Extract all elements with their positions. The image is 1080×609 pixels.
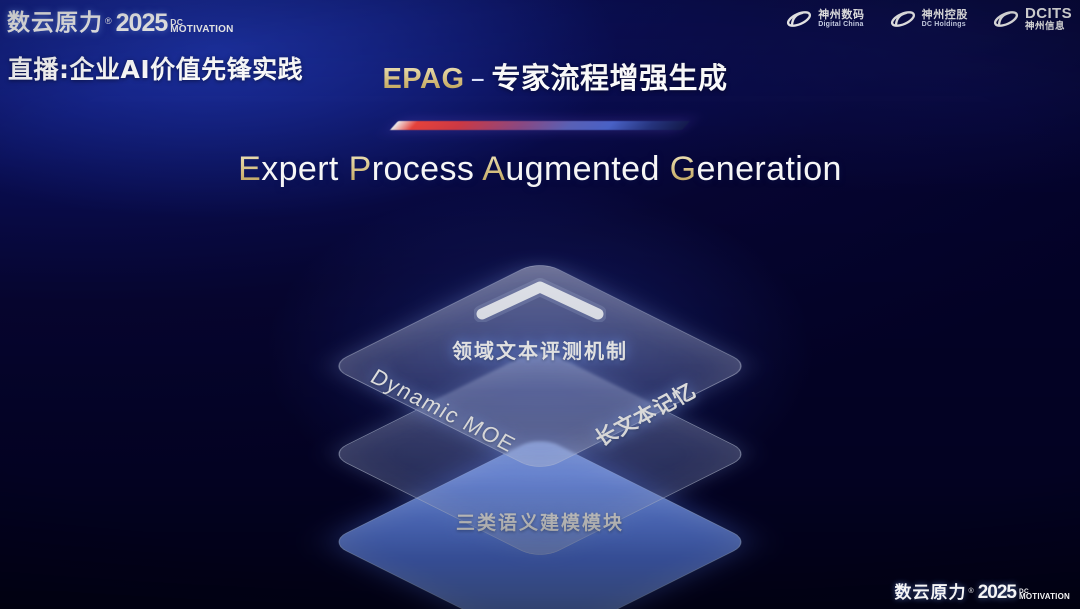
partner-name-en: DC Holdings <box>922 21 968 28</box>
layer-top-plate <box>328 260 752 472</box>
word1-rest: xpert <box>261 150 339 188</box>
swirl-logo-icon <box>785 8 813 30</box>
word3-capital: A <box>482 150 505 188</box>
brand-name-cn: 数云原力 <box>7 3 103 37</box>
watermark-registered-mark: ® <box>969 588 974 595</box>
partner-logo-dcits: DCITS 神州信息 <box>992 6 1072 32</box>
brand-year: 2025 <box>116 9 168 38</box>
slide-heading-acronym: EPAG <box>382 63 464 95</box>
layer-top-label: 领域文本评测机制 <box>452 335 628 364</box>
partner-logo-text: DCITS 神州信息 <box>1025 6 1072 32</box>
partner-logo-dc-holdings: 神州控股 DC Holdings <box>889 8 968 30</box>
partner-name-en: Digital China <box>818 21 864 28</box>
gradient-divider-bar <box>390 121 690 130</box>
watermark-year: 2025 <box>978 582 1016 604</box>
word1-capital: E <box>238 150 261 188</box>
partner-name-cn: 神州控股 <box>922 9 968 21</box>
event-brand-logo: 数云原力 ® 2025 DC MOTIVATION <box>7 3 234 37</box>
footer-watermark-logo: 数云原力 ® 2025 DC MOTIVATION <box>895 578 1070 603</box>
partner-logo-digital-china: 神州数码 Digital China <box>785 8 864 30</box>
watermark-dc-motivation: DC MOTIVATION <box>1019 589 1070 603</box>
swirl-logo-icon <box>889 8 917 30</box>
word2-rest: rocess <box>372 150 475 188</box>
brand-dc-motivation: DC MOTIVATION <box>170 19 233 37</box>
partner-name-en: DCITS <box>1025 6 1072 22</box>
partner-logo-row: 神州数码 Digital China 神州控股 DC Holdings DCIT… <box>785 6 1072 32</box>
watermark-dc-line2: MOTIVATION <box>1019 594 1070 601</box>
diagram-layer-top <box>390 216 690 516</box>
layer-bottom-label: 三类语义建模模块 <box>456 508 624 535</box>
registered-mark: ® <box>105 16 112 26</box>
slide-heading-dash: – <box>465 61 492 95</box>
watermark-brand-cn: 数云原力 <box>895 578 967 603</box>
word3-rest: ugmented <box>505 150 659 188</box>
partner-name-cn: 神州信息 <box>1025 22 1072 32</box>
word4-rest: eneration <box>696 150 841 188</box>
slide-heading-cn: 专家流程增强生成 <box>492 61 728 95</box>
isometric-layer-diagram: 领域文本评测机制 三类语义建模模块 <box>0 222 1080 572</box>
partner-logo-text: 神州控股 DC Holdings <box>922 9 968 28</box>
word2-capital: P <box>349 150 372 188</box>
slide-canvas: 数云原力 ® 2025 DC MOTIVATION 直播:企业AI价值先锋实践 … <box>0 0 1080 609</box>
slide-heading: EPAG–专家流程增强生成 <box>0 55 1080 97</box>
word4-capital: G <box>670 150 697 188</box>
partner-logo-text: 神州数码 Digital China <box>818 9 864 28</box>
brand-dc-line2: MOTIVATION <box>170 26 233 35</box>
partner-name-cn: 神州数码 <box>818 9 864 21</box>
swirl-logo-icon <box>992 8 1020 30</box>
english-expansion: Expert Process Augmented Generation <box>0 150 1080 189</box>
